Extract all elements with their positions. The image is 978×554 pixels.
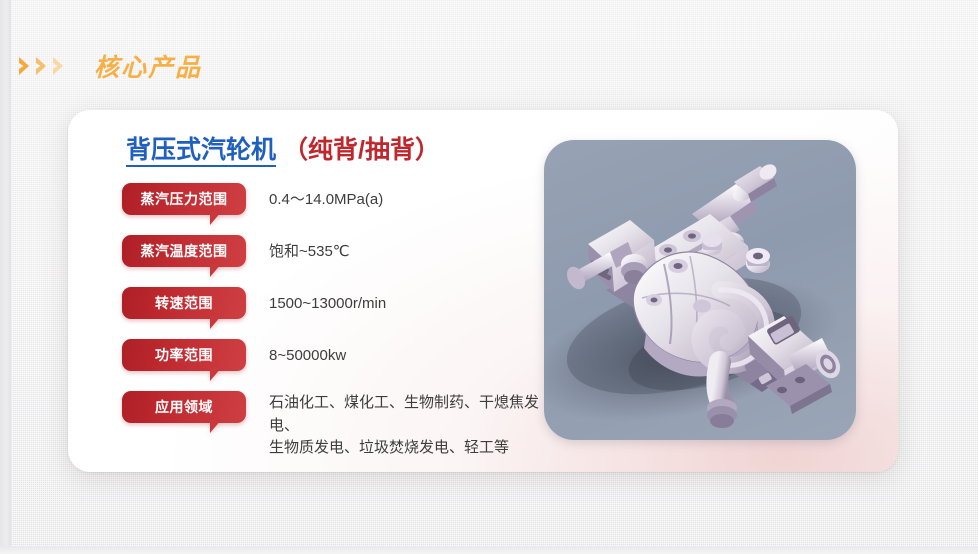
spec-label-bubble: 蒸汽温度范围 [122,235,250,267]
spec-row: 蒸汽温度范围 饱和~535℃ [122,235,542,282]
spec-label-bubble: 应用领域 [122,391,250,423]
product-image [544,140,856,440]
spec-row: 蒸汽压力范围 0.4～14.0MPa(a) [122,183,542,230]
bubble-tail-icon [210,420,221,433]
bubble-tail-icon [210,212,221,225]
double-chevron-right-icon [17,54,67,78]
bottom-edge-band [0,546,978,554]
product-title-variants: （纯背/抽背） [283,138,440,163]
spec-row: 应用领域 石油化工、煤化工、生物制药、干熄焦发电、 生物质发电、垃圾焚烧发电、轻… [122,391,542,460]
spec-label-bubble: 蒸汽压力范围 [122,183,250,215]
product-title: 背压式汽轮机 （纯背/抽背） [126,138,542,167]
spec-row: 功率范围 8~50000kw [122,339,542,386]
turbine-render-illustration [544,140,856,440]
product-card: 背压式汽轮机 （纯背/抽背） 蒸汽压力范围 0.4～14.0MPa(a) 蒸汽温… [68,110,898,472]
spec-value: 8~50000kw [250,339,542,368]
bubble-tail-icon [210,264,221,277]
spec-label: 转速范围 [122,287,246,319]
product-info-column: 背压式汽轮机 （纯背/抽背） 蒸汽压力范围 0.4～14.0MPa(a) 蒸汽温… [122,138,542,460]
spec-label: 应用领域 [122,391,246,423]
spec-list: 蒸汽压力范围 0.4～14.0MPa(a) 蒸汽温度范围 饱和~535℃ 转速范… [122,183,542,460]
spec-label-bubble: 转速范围 [122,287,250,319]
spec-value: 0.4～14.0MPa(a) [250,183,542,212]
section-header: 核心产品 [0,44,202,88]
spec-value: 1500~13000r/min [250,287,542,316]
slide-canvas: 核心产品 背压式汽轮机 （纯背/抽背） 蒸汽压力范围 0.4～14.0MPa(a… [0,0,978,554]
bubble-tail-icon [210,368,221,381]
product-title-main: 背压式汽轮机 [126,138,276,167]
spec-label: 功率范围 [122,339,246,371]
spec-label-bubble: 功率范围 [122,339,250,371]
page-title: 核心产品 [94,48,202,84]
spec-value: 饱和~535℃ [250,235,542,264]
spec-label: 蒸汽温度范围 [122,235,246,267]
spec-row: 转速范围 1500~13000r/min [122,287,542,334]
bubble-tail-icon [210,316,221,329]
spec-value: 石油化工、煤化工、生物制药、干熄焦发电、 生物质发电、垃圾焚烧发电、轻工等 [250,391,542,460]
spec-label: 蒸汽压力范围 [122,183,246,215]
